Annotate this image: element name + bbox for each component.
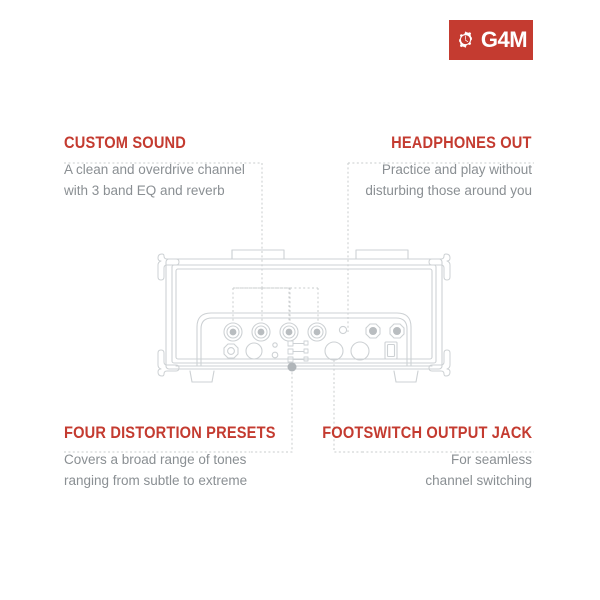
amp-output-jack — [246, 343, 262, 359]
amp-footswitch-jack — [351, 342, 369, 360]
amp-hex-jack-nuts — [366, 324, 404, 338]
amp-headphone-jack — [325, 342, 343, 360]
amp-eq-knobs — [224, 323, 326, 341]
amp-top-handle — [232, 250, 408, 259]
amp-cabinet-feet — [190, 371, 418, 382]
infographic-page: G4M CUSTOM SOUND A clean and overdrive c… — [0, 0, 600, 600]
amp-small-led-2 — [272, 352, 278, 358]
amp-power-switch — [385, 342, 397, 359]
amp-indicator-led — [339, 326, 346, 333]
callout-anchor-dot — [288, 363, 297, 372]
amp-input-jack — [224, 344, 238, 358]
amp-small-led-1 — [273, 343, 277, 347]
guitar-amplifier-illustration — [0, 0, 600, 600]
